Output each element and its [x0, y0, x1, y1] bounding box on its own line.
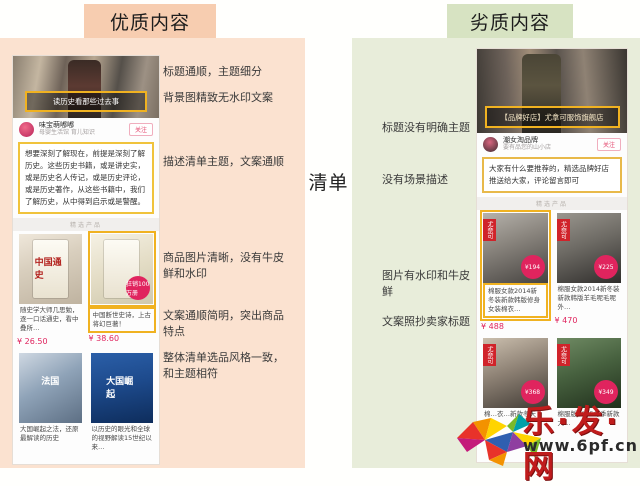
good-note-3: 描述清单主题，文案通顺 — [163, 154, 289, 170]
product-thumbnail: 尤奈可 ¥349 — [557, 338, 622, 408]
bad-product-2-bubble: ¥225 — [594, 255, 618, 279]
bad-note-1: 标题没有明确主题 — [382, 120, 474, 136]
good-note-5: 文案通顺简明，突出商品特点 — [163, 308, 289, 340]
good-hero-title: 读历史看那些过去事 — [53, 96, 119, 106]
good-product-3[interactable]: 法国 大国崛起之法，还原最解读的历史 — [16, 350, 85, 446]
bad-product-1-bubble: ¥194 — [521, 255, 545, 279]
bad-product-grid-row1: 尤奈可 ¥194 棉服女款2014新冬装新款韩版修身女装棉衣… ¥ 488 尤奈… — [477, 210, 627, 335]
good-product-1-caption: 随史学大师几思勉，逐一口话通史，看中叠所… — [19, 304, 82, 333]
good-product-1[interactable]: 中国通史 随史学大师几思勉，逐一口话通史，看中叠所… — [16, 231, 85, 336]
good-product-3-name: 法国 — [41, 374, 59, 387]
good-section-divider: 精选产品 — [13, 218, 159, 231]
good-account-row[interactable]: 味宝萌嘟嘟 母婴生活馆 育儿知识 关注 — [13, 118, 159, 140]
product-cell[interactable]: 尤奈可 ¥194 棉服女款2014新冬装新款韩版修身女装棉衣… ¥ 488 — [480, 210, 551, 335]
product-cell[interactable]: 尤奈可 ¥368 棉…衣…新款冬天 — [480, 335, 551, 431]
bad-product-4-bubble: ¥349 — [594, 380, 618, 404]
product-cell[interactable]: 大国崛起 以历史的眼光和全球的视野解读15世纪以来… — [88, 350, 157, 455]
bad-product-3-ribbon: 尤奈可 — [483, 344, 496, 366]
bad-annotations: 标题没有明确主题 没有场景描述 图片有水印和牛皮鲜 文案照抄卖家标题 — [382, 120, 474, 330]
product-thumbnail: 法国 — [19, 353, 82, 423]
bad-feed-card: 【品牌好店】尤拿可服饰旗舰店 潮女淘品牌 要有品您的山小店 关注 大家有什么要推… — [476, 48, 628, 463]
bad-product-4[interactable]: 尤奈可 ¥349 棉服版2015冬季新款大… — [554, 335, 625, 431]
good-header-label: 优质内容 — [110, 8, 190, 35]
bad-product-1-price: ¥ 488 — [480, 321, 551, 335]
good-product-1-name: 中国通史 — [35, 255, 66, 281]
bad-product-3-caption: 棉…衣…新款冬天 — [483, 408, 548, 419]
bad-hero-image: 【品牌好店】尤拿可服饰旗舰店 — [477, 49, 627, 133]
good-note-2: 背景图精致无水印文案 — [163, 90, 289, 106]
product-thumbnail: 大国崛起 — [91, 353, 154, 423]
follow-button[interactable]: 关注 — [129, 123, 153, 136]
bad-product-1-ribbon: 尤奈可 — [483, 219, 496, 241]
bad-note-3: 图片有水印和牛皮鲜 — [382, 268, 474, 300]
follow-button[interactable]: 关注 — [597, 138, 621, 151]
avatar — [19, 122, 34, 137]
good-feed-card: 读历史看那些过去事 味宝萌嘟嘟 母婴生活馆 育儿知识 关注 想要深刻了解现在，前… — [12, 55, 160, 465]
bad-header-label: 劣质内容 — [470, 8, 550, 35]
product-thumbnail: 尤奈可 ¥225 — [557, 213, 622, 283]
good-content-header: 优质内容 — [84, 4, 216, 38]
good-product-4-caption: 以历史的眼光和全球的视野解读15世纪以来… — [91, 423, 154, 452]
product-thumbnail: 狂销100万册 — [91, 234, 154, 304]
product-thumbnail: 尤奈可 ¥194 — [483, 213, 548, 283]
center-category-text: 清单 — [308, 172, 348, 194]
promo-badge: 狂销100万册 — [126, 276, 150, 300]
bad-note-4: 文案照抄卖家标题 — [382, 314, 474, 330]
bad-hero-title-box: 【品牌好店】尤拿可服饰旗舰店 — [485, 106, 620, 128]
good-product-3-caption: 大国崛起之法，还原最解读的历史 — [19, 423, 82, 443]
product-thumbnail: 中国通史 — [19, 234, 82, 304]
good-product-grid-row1: 中国通史 随史学大师几思勉，逐一口话通史，看中叠所… ¥ 26.50 狂销100… — [13, 231, 159, 350]
center-category-label: 清单 — [305, 168, 352, 195]
good-product-1-price: ¥ 26.50 — [16, 336, 85, 350]
good-product-2-price: ¥ 38.60 — [88, 333, 157, 347]
good-annotations: 标题通顺，主题细分 背景图精致无水印文案 描述清单主题，文案通顺 商品图片清晰，… — [163, 60, 289, 382]
good-product-2-caption: 中国断世史诗，上古将幻巨著！ — [88, 307, 157, 333]
product-cell[interactable]: 法国 大国崛起之法，还原最解读的历史 — [16, 350, 85, 455]
bad-hero-title: 【品牌好店】尤拿可服饰旗舰店 — [500, 112, 603, 122]
bad-account-name: 潮女淘品牌 — [503, 136, 592, 144]
good-hero-image: 读历史看那些过去事 — [13, 56, 159, 118]
avatar — [483, 137, 498, 152]
bad-account-subtitle: 要有品您的山小店 — [503, 144, 592, 152]
bad-content-header: 劣质内容 — [447, 4, 573, 38]
bad-product-grid-row2: 尤奈可 ¥368 棉…衣…新款冬天 尤奈可 ¥349 棉服版2015冬季新款大… — [477, 335, 627, 431]
good-account-name: 味宝萌嘟嘟 — [39, 121, 124, 129]
good-hero-title-box: 读历史看那些过去事 — [25, 91, 148, 112]
product-cell[interactable]: 中国通史 随史学大师几思勉，逐一口话通史，看中叠所… ¥ 26.50 — [16, 231, 85, 350]
bad-description-box: 大家有什么要推荐的，精选品牌好店推送给大家，评论留言即可 — [482, 157, 622, 193]
bad-product-2-price: ¥ 470 — [554, 315, 625, 329]
bad-product-4-ribbon: 尤奈可 — [557, 344, 570, 366]
product-cell[interactable]: 尤奈可 ¥225 棉服女款2014新冬装新款韩版羊毛呢毛呢外… ¥ 470 — [554, 210, 625, 335]
bad-product-2[interactable]: 尤奈可 ¥225 棉服女款2014新冬装新款韩版羊毛呢毛呢外… — [554, 210, 625, 315]
bad-product-3-bubble: ¥368 — [521, 380, 545, 404]
bad-note-2: 没有场景描述 — [382, 172, 474, 188]
product-cell[interactable]: 尤奈可 ¥349 棉服版2015冬季新款大… — [554, 335, 625, 431]
good-note-4: 商品图片清晰，没有牛皮鲜和水印 — [163, 250, 289, 282]
bad-product-4-caption: 棉服版2015冬季新款大… — [557, 408, 622, 428]
good-product-4[interactable]: 大国崛起 以历史的眼光和全球的视野解读15世纪以来… — [88, 350, 157, 455]
slide-canvas: 优质内容 劣质内容 清单 读历史看那些过去事 味宝萌嘟嘟 母婴生活馆 育儿知识 … — [0, 0, 640, 468]
bad-product-1-caption: 棉服女款2014新冬装新款韩版修身女装棉衣… — [483, 283, 548, 318]
good-account-subtitle: 母婴生活馆 育儿知识 — [39, 129, 124, 137]
good-account-text: 味宝萌嘟嘟 母婴生活馆 育儿知识 — [39, 121, 124, 137]
good-product-grid-row2: 法国 大国崛起之法，还原最解读的历史 大国崛起 以历史的眼光和全球的视野解读15… — [13, 350, 159, 455]
bad-section-divider: 精选产品 — [477, 197, 627, 210]
good-product-4-name: 大国崛起 — [106, 374, 137, 400]
bad-product-1[interactable]: 尤奈可 ¥194 棉服女款2014新冬装新款韩版修身女装棉衣… — [480, 210, 551, 321]
good-product-2[interactable]: 狂销100万册 — [88, 231, 157, 307]
bad-description-text: 大家有什么要推荐的，精选品牌好店推送给大家，评论留言即可 — [489, 163, 615, 187]
good-description-box: 想要深刻了解现在，前提是深刻了解历史。这些历史书籍，或是讲史实，或是历史名人传记… — [18, 142, 154, 214]
bad-product-2-ribbon: 尤奈可 — [557, 219, 570, 241]
bad-account-text: 潮女淘品牌 要有品您的山小店 — [503, 136, 592, 152]
bad-product-3[interactable]: 尤奈可 ¥368 棉…衣…新款冬天 — [480, 335, 551, 422]
bad-account-row[interactable]: 潮女淘品牌 要有品您的山小店 关注 — [477, 133, 627, 155]
good-note-6: 整体清单选品风格一致，和主题相符 — [163, 350, 289, 382]
bad-product-2-caption: 棉服女款2014新冬装新款韩版羊毛呢毛呢外… — [557, 283, 622, 312]
product-thumbnail: 尤奈可 ¥368 — [483, 338, 548, 408]
good-note-1: 标题通顺，主题细分 — [163, 64, 289, 80]
good-description-text: 想要深刻了解现在，前提是深刻了解历史。这些历史书籍，或是讲史实，或是历史名人传记… — [25, 148, 147, 208]
product-cell[interactable]: 狂销100万册 中国断世史诗，上古将幻巨著！ ¥ 38.60 — [88, 231, 157, 350]
